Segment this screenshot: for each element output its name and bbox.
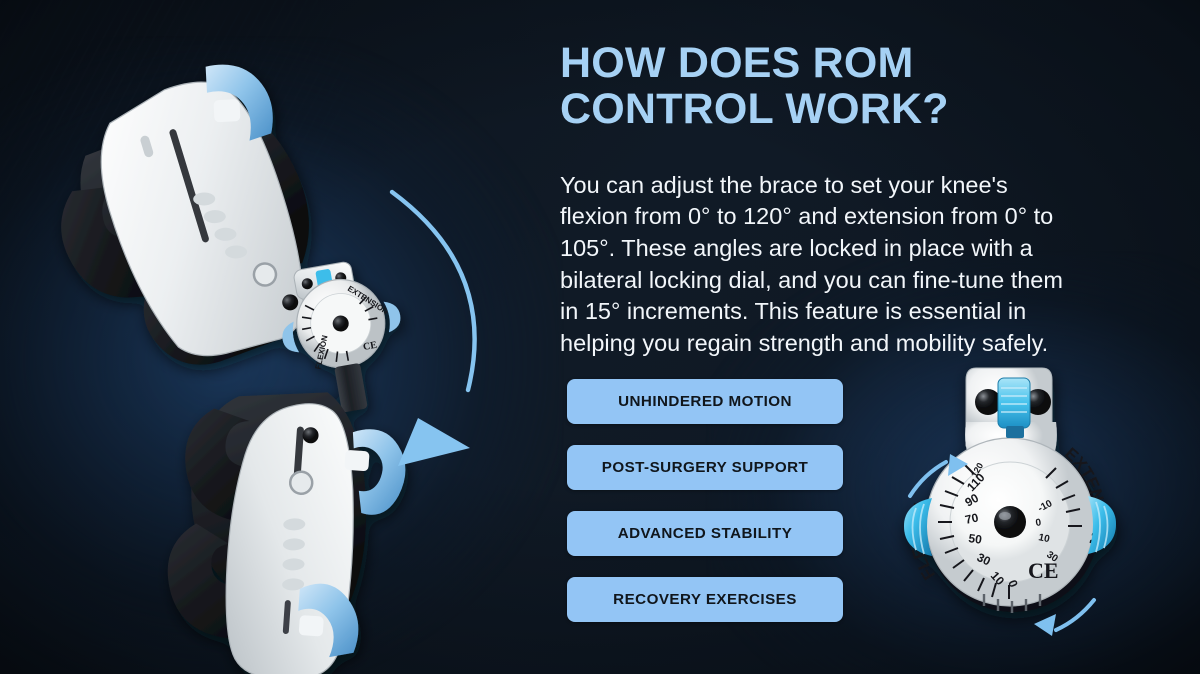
headline-line-1: HOW DOES ROM bbox=[560, 40, 1080, 86]
svg-text:50: 50 bbox=[968, 531, 983, 547]
feature-pill-unhindered-motion[interactable]: UNHINDERED MOTION bbox=[567, 379, 843, 424]
body-paragraph: You can adjust the brace to set your kne… bbox=[560, 170, 1072, 360]
feature-list: UNHINDERED MOTION POST-SURGERY SUPPORT A… bbox=[567, 379, 843, 622]
rotation-arrow-head-down bbox=[1034, 614, 1056, 636]
feature-pill-post-surgery-support[interactable]: POST-SURGERY SUPPORT bbox=[567, 445, 843, 490]
knee-brace-illustration: FLEXION EXTENSION CE bbox=[0, 0, 520, 674]
rom-hinge-illustration: 120 110 90 70 50 30 10 0 -10 0 10 30 bbox=[880, 350, 1180, 650]
headline-line-2: CONTROL WORK? bbox=[560, 86, 1080, 132]
range-of-motion-arrow bbox=[392, 192, 475, 466]
feature-pill-advanced-stability[interactable]: ADVANCED STABILITY bbox=[567, 511, 843, 556]
brace-lower-cuff bbox=[161, 382, 411, 674]
hinge-center-pivot bbox=[994, 506, 1026, 538]
ce-mark: CE bbox=[1028, 558, 1059, 583]
feature-pill-recovery-exercises[interactable]: RECOVERY EXERCISES bbox=[567, 577, 843, 622]
hinge-screw-left bbox=[975, 389, 1001, 415]
page-title: HOW DOES ROM CONTROL WORK? bbox=[560, 40, 1080, 133]
infographic-canvas: FLEXION EXTENSION CE bbox=[0, 0, 1200, 674]
